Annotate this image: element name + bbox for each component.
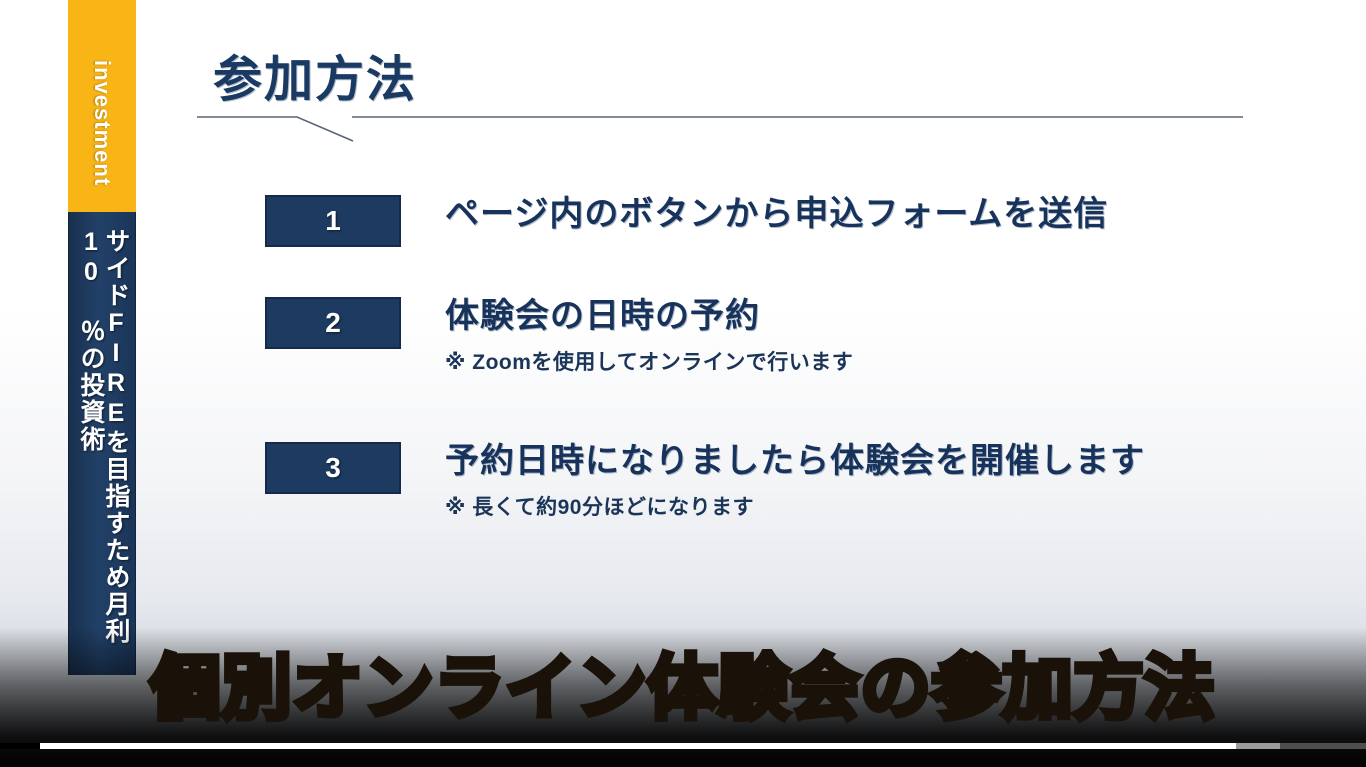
player-controls[interactable]: 23:35 / 25:41 [0, 690, 1366, 767]
video-player[interactable]: investment サイドFIREを目指すため月利10 ％の投資術 参加方法 … [0, 0, 1366, 767]
step-content: 予約日時になりましたら体験会を開催します ※ 長くて約90分ほどになります [445, 440, 1145, 521]
sidebar-navy-band: サイドFIREを目指すため月利10 ％の投資術 [68, 212, 136, 675]
sidebar-top-label: investment [68, 0, 136, 212]
sidebar-yellow-band: investment [68, 0, 136, 212]
sidebar-bottom-label: サイドFIREを目指すため月利10 ％の投資術 [69, 212, 136, 675]
page-title: 参加方法 [213, 40, 417, 111]
step-content: ページ内のボタンから申込フォームを送信 [445, 193, 1108, 236]
slide-sidebar: investment サイドFIREを目指すため月利10 ％の投資術 [68, 0, 136, 675]
step-number-badge: 3 [265, 442, 401, 494]
step-note: ※ Zoomを使用してオンラインで行います [445, 346, 853, 376]
step-content: 体験会の日時の予約 ※ Zoomを使用してオンラインで行います [445, 295, 853, 376]
step-heading: 体験会の日時の予約 [445, 295, 853, 338]
progress-buffered [1236, 743, 1280, 749]
step-number-badge: 1 [265, 195, 401, 247]
step-heading: 予約日時になりましたら体験会を開催します [445, 440, 1145, 483]
step-number-badge: 2 [265, 297, 401, 349]
step-note: ※ 長くて約90分ほどになります [445, 491, 1145, 521]
step-heading: ページ内のボタンから申込フォームを送信 [445, 193, 1108, 236]
progress-left-cap [0, 743, 40, 749]
progress-bar[interactable] [0, 743, 1366, 749]
progress-track [1280, 743, 1366, 749]
progress-played [0, 743, 1236, 749]
